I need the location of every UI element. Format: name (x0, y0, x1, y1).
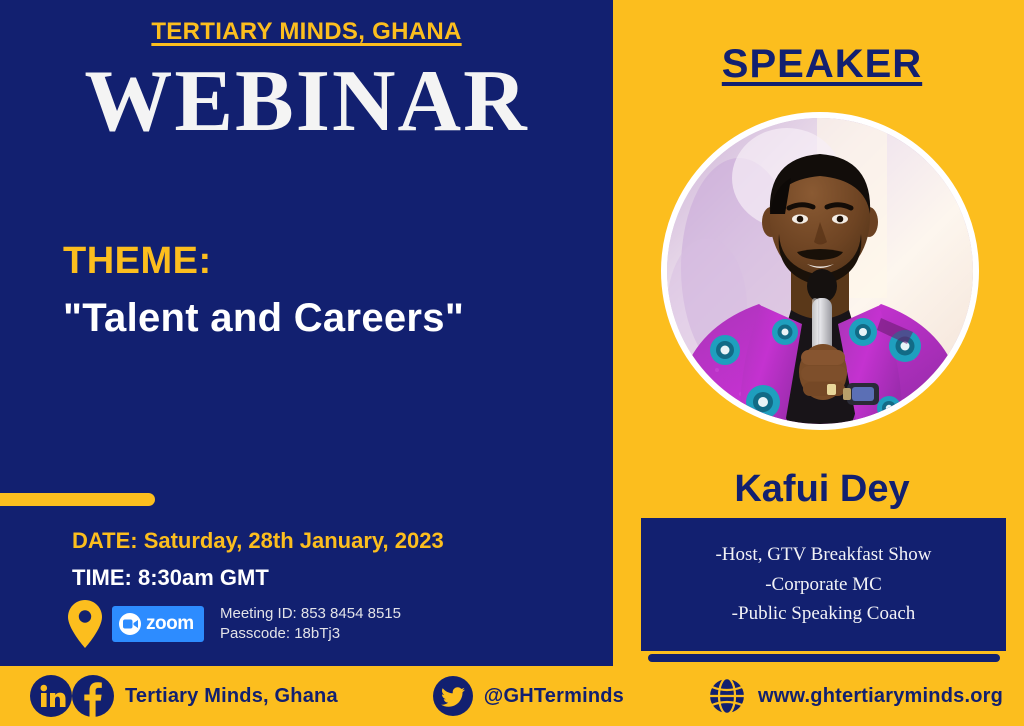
footer-twitter-group: @GHTerminds (433, 676, 624, 716)
speaker-bio-box: -Host, GTV Breakfast Show -Corporate MC … (641, 518, 1006, 651)
linkedin-icon[interactable] (30, 675, 72, 717)
event-date: DATE: Saturday, 28th January, 2023 (72, 528, 444, 554)
event-time: TIME: 8:30am GMT (72, 565, 269, 591)
bio-line: -Host, GTV Breakfast Show (715, 541, 931, 569)
left-info-panel: TERTIARY MINDS, GHANA WEBINAR THEME: "Ta… (0, 0, 613, 666)
meeting-id: Meeting ID: 853 8454 8515 (220, 604, 401, 624)
location-pin-icon (68, 600, 102, 648)
zoom-logo-badge[interactable]: zoom (112, 606, 204, 642)
bio-underline-bar (648, 654, 1000, 662)
footer-bar: Tertiary Minds, Ghana @GHTerminds (0, 666, 1024, 726)
facebook-icon[interactable] (72, 675, 114, 717)
website-label: www.ghtertiaryminds.org (758, 685, 1003, 708)
bio-line: -Public Speaking Coach (732, 600, 916, 628)
speaker-portrait-photo (661, 112, 979, 430)
accent-divider-bar (0, 493, 155, 506)
webinar-flyer: TERTIARY MINDS, GHANA WEBINAR THEME: "Ta… (0, 0, 1024, 726)
organization-name: TERTIARY MINDS, GHANA (0, 18, 613, 46)
bio-line: -Corporate MC (765, 571, 882, 599)
meeting-details-row: zoom Meeting ID: 853 8454 8515 Passcode:… (68, 600, 401, 648)
meeting-credentials: Meeting ID: 853 8454 8515 Passcode: 18bT… (220, 604, 401, 645)
footer-social-group: Tertiary Minds, Ghana (30, 675, 338, 717)
globe-icon[interactable] (707, 676, 747, 716)
meeting-passcode: Passcode: 18bTj3 (220, 624, 401, 644)
footer-website-group: www.ghtertiaryminds.org (707, 676, 1003, 716)
avatar (667, 118, 973, 424)
twitter-icon[interactable] (433, 676, 473, 716)
speaker-name: Kafui Dey (620, 468, 1024, 511)
speaker-heading: SPEAKER (620, 42, 1024, 87)
video-camera-icon (119, 613, 141, 635)
theme-label: THEME: (63, 240, 212, 283)
social-handle-label: Tertiary Minds, Ghana (125, 685, 338, 708)
page-title: WEBINAR (0, 58, 613, 146)
zoom-wordmark: zoom (146, 613, 194, 635)
theme-value: "Talent and Careers" (63, 296, 464, 341)
twitter-handle-label: @GHTerminds (484, 685, 624, 708)
